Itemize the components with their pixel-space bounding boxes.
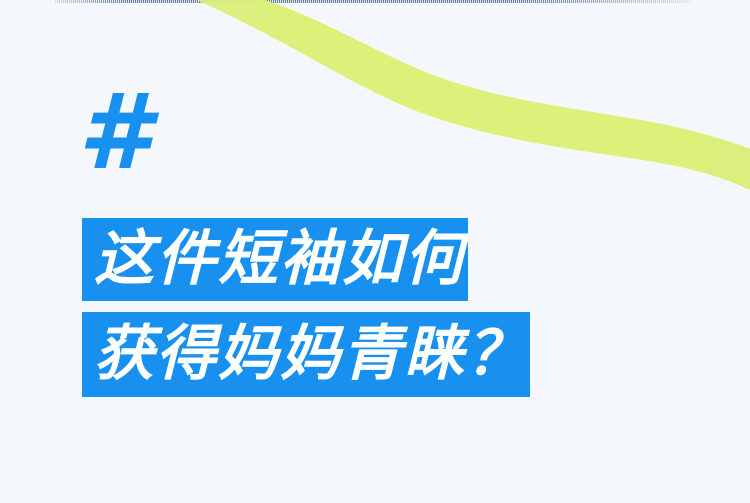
headline-line-1: 这件短袖如何	[82, 218, 468, 301]
headline-line-2: 获得妈妈青睐？	[82, 312, 530, 397]
top-dither-rule-fade	[55, 0, 690, 3]
hashtag-glyph: #	[78, 82, 158, 182]
poster-canvas: # 这件短袖如何 获得妈妈青睐？	[0, 0, 750, 503]
hashtag-symbol: #	[78, 82, 158, 182]
green-wave-ribbon-path	[188, 0, 750, 192]
headline-block: 这件短袖如何 获得妈妈青睐？	[82, 218, 530, 397]
